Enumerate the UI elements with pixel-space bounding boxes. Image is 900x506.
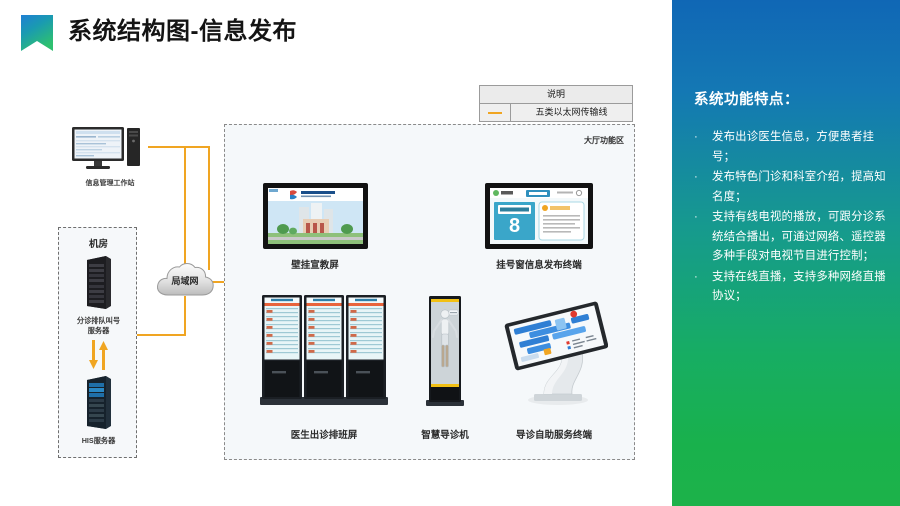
bullet-icon: · [694, 128, 698, 148]
feature-list-item: · 支持在线直播，支持多种网络直播协议； [690, 268, 886, 307]
server-room-box: 机房 分诊排队叫号 服务器 [58, 227, 137, 458]
bidirectional-arrows-icon [85, 340, 113, 370]
vertical-kiosk-human-body-icon[interactable] [420, 296, 470, 408]
cloud-label: 局域网 [154, 274, 216, 287]
slanted-touchscreen-kiosk-icon[interactable] [500, 300, 608, 408]
feature-list-item: · 发布出诊医生信息，方便患者挂号； [690, 128, 886, 167]
legend-header: 说明 [480, 86, 632, 104]
desktop-computer-icon [70, 125, 148, 175]
server-label-triage-line2: 服务器 [88, 326, 110, 335]
server-rack-blue-icon [84, 374, 114, 430]
orange-line-swatch-icon [488, 112, 502, 114]
feature-list-item: · 支持有线电视的播放，可跟分诊系统结合播出，可通过网络、遥控器多种手段对电视节… [690, 208, 886, 267]
link-cloud-top-stem [184, 146, 186, 268]
link-bus-vertical [208, 146, 210, 270]
server-label-triage: 分诊排队叫号 服务器 [59, 316, 138, 335]
feature-list-item: · 发布特色门诊和科室介绍，提高知名度； [690, 168, 886, 207]
legend-label: 五类以太网传输线 [511, 104, 632, 121]
device-label-smart-guidance-kiosk: 智慧导诊机 [395, 427, 495, 441]
page-title: 系统结构图-信息发布 [68, 14, 297, 50]
feature-panel-title: 系统功能特点： [694, 88, 799, 109]
legend-row: 五类以太网传输线 [480, 104, 632, 121]
feature-list: · 发布出诊医生信息，方便患者挂号； · 发布特色门诊和科室介绍，提高知名度； … [690, 128, 886, 308]
device-label-doctor-schedule-screens: 医生出诊排班屏 [254, 427, 394, 441]
server-room-title: 机房 [59, 236, 138, 250]
triple-vertical-kiosk-icon[interactable] [258, 293, 390, 409]
wall-mounted-tv-icon[interactable]: 8 [485, 183, 593, 249]
svg-text:8: 8 [509, 215, 520, 237]
link-workstation-to-bus [148, 146, 210, 148]
feature-panel: 系统功能特点： · 发布出诊医生信息，方便患者挂号； · 发布特色门诊和科室介绍… [672, 0, 900, 506]
device-label-guidance-self-service-terminal: 导诊自助服务终端 [484, 427, 624, 441]
device-label-wall-education-screen: 壁挂宣教屏 [245, 257, 385, 271]
feature-item-text: 发布特色门诊和科室介绍，提高知名度； [712, 171, 886, 203]
page-header: 系统结构图-信息发布 [0, 0, 665, 62]
bookmark-ribbon-icon [18, 14, 56, 52]
server-label-his: HIS服务器 [59, 436, 138, 446]
server-label-triage-line1: 分诊排队叫号 [77, 316, 120, 325]
lobby-function-area: 大厅功能区 [224, 124, 635, 460]
device-label-registration-window-terminal: 挂号窗信息发布终端 [469, 257, 609, 271]
feature-item-text: 支持在线直播，支持多种网络直播协议； [712, 271, 886, 303]
legend-box: 说明 五类以太网传输线 [479, 85, 633, 122]
bullet-icon: · [694, 268, 698, 288]
wall-mounted-tv-icon[interactable] [263, 183, 368, 249]
lan-cloud: 局域网 [154, 258, 216, 302]
link-serverroom-to-cloud [136, 334, 186, 336]
legend-swatch-cell [480, 104, 511, 121]
server-rack-dark-icon [84, 254, 114, 310]
feature-panel-inner: 系统功能特点： · 发布出诊医生信息，方便患者挂号； · 发布特色门诊和科室介绍… [690, 0, 886, 506]
feature-item-text: 支持有线电视的播放，可跟分诊系统结合播出，可通过网络、遥控器多种手段对电视节目进… [712, 211, 886, 262]
bullet-icon: · [694, 208, 698, 228]
bullet-icon: · [694, 168, 698, 188]
feature-item-text: 发布出诊医生信息，方便患者挂号； [712, 131, 874, 163]
lobby-area-title: 大厅功能区 [584, 135, 624, 146]
workstation-label: 信息管理工作站 [60, 178, 160, 188]
link-cloud-bottom-stem [184, 296, 186, 336]
